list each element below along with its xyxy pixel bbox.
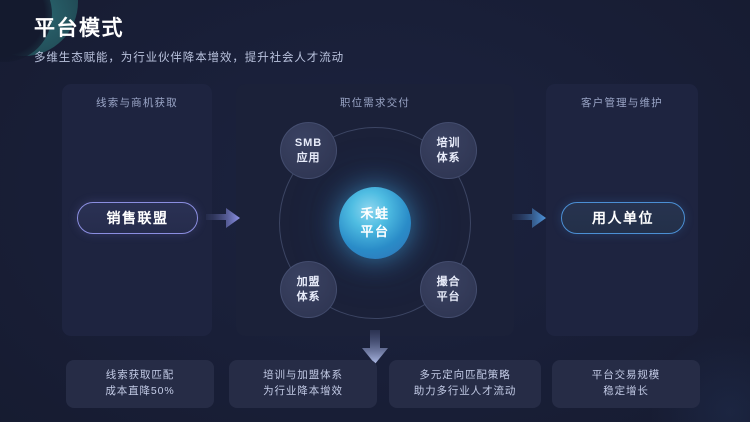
card-training-value: 培训与加盟体系 为行业降本增效 bbox=[229, 360, 377, 408]
card-matching-flow-line-1: 多元定向匹配策略 bbox=[419, 368, 510, 384]
card-training-value-line-2: 为行业降本增效 bbox=[263, 384, 343, 400]
card-gmv-growth-line-1: 平台交易规模 bbox=[592, 368, 660, 384]
arrow-right-icon-leads-to-delivery bbox=[206, 205, 242, 231]
node-smb-app-line-1: SMB bbox=[295, 136, 322, 151]
core-platform-node[interactable]: 禾蛙 平台 bbox=[339, 187, 411, 259]
node-franchise-system[interactable]: 加盟 体系 bbox=[280, 261, 337, 318]
slide-canvas: 平台模式 多维生态赋能，为行业伙伴降本增效，提升社会人才流动 线索与商机获取 职… bbox=[0, 0, 750, 422]
panel-delivery-header: 职位需求交付 bbox=[236, 95, 514, 110]
node-matching-platform-line-1: 撮合 bbox=[437, 275, 461, 290]
employer-label: 用人单位 bbox=[592, 208, 654, 228]
core-line-1: 禾蛙 bbox=[360, 205, 389, 223]
card-gmv-growth-line-2: 稳定增长 bbox=[603, 384, 649, 400]
node-training-system-line-2: 体系 bbox=[437, 151, 461, 166]
sales-alliance-button[interactable]: 销售联盟 bbox=[77, 202, 198, 234]
node-smb-app-line-2: 应用 bbox=[297, 151, 321, 166]
header-block: 平台模式 多维生态赋能，为行业伙伴降本增效，提升社会人才流动 bbox=[34, 16, 344, 65]
card-matching-flow: 多元定向匹配策略 助力多行业人才流动 bbox=[389, 360, 541, 408]
node-franchise-system-line-2: 体系 bbox=[297, 290, 321, 305]
node-matching-platform[interactable]: 撮合 平台 bbox=[420, 261, 477, 318]
panel-leads-header: 线索与商机获取 bbox=[62, 95, 212, 110]
card-lead-cost-line-1: 线索获取匹配 bbox=[106, 368, 174, 384]
node-smb-app[interactable]: SMB 应用 bbox=[280, 122, 337, 179]
core-line-2: 平台 bbox=[360, 223, 389, 241]
card-training-value-line-1: 培训与加盟体系 bbox=[263, 368, 343, 384]
card-lead-cost: 线索获取匹配 成本直降50% bbox=[66, 360, 214, 408]
node-franchise-system-line-1: 加盟 bbox=[297, 275, 321, 290]
page-title: 平台模式 bbox=[34, 16, 344, 42]
node-training-system-line-1: 培训 bbox=[437, 136, 461, 151]
employer-button[interactable]: 用人单位 bbox=[561, 202, 685, 234]
panel-customer-header: 客户管理与维护 bbox=[546, 95, 698, 110]
node-training-system[interactable]: 培训 体系 bbox=[420, 122, 477, 179]
arrow-right-icon-delivery-to-customer bbox=[512, 205, 548, 231]
sales-alliance-label: 销售联盟 bbox=[107, 208, 169, 228]
card-matching-flow-line-2: 助力多行业人才流动 bbox=[414, 384, 517, 400]
node-matching-platform-line-2: 平台 bbox=[437, 290, 461, 305]
card-lead-cost-line-2: 成本直降50% bbox=[105, 384, 174, 400]
card-gmv-growth: 平台交易规模 稳定增长 bbox=[552, 360, 700, 408]
page-subtitle: 多维生态赋能，为行业伙伴降本增效，提升社会人才流动 bbox=[34, 49, 344, 65]
